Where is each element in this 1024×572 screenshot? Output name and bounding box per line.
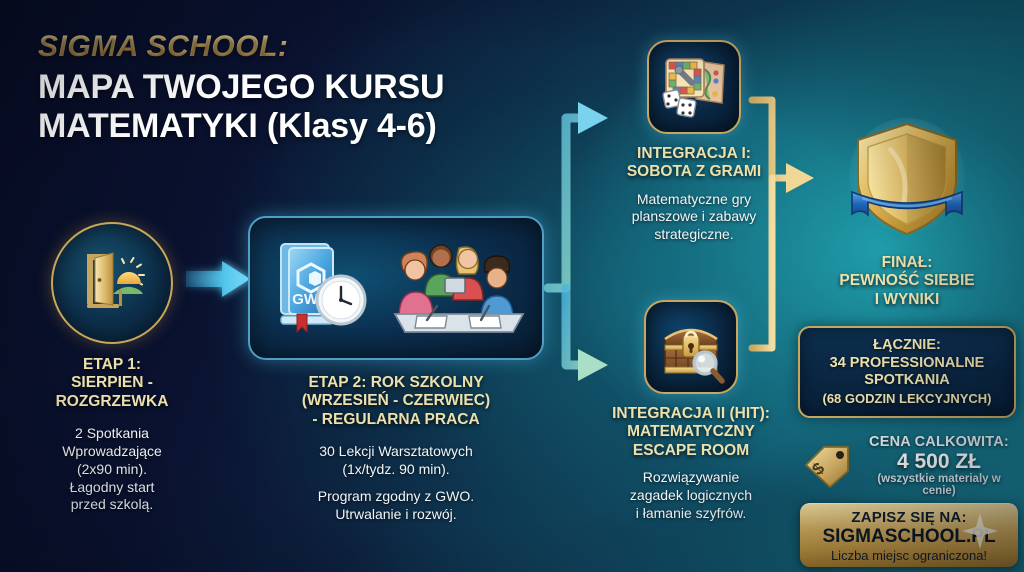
stage-1-description: 2 Spotkania Wprowadzające (2x90 min). Ła… — [6, 425, 218, 515]
integration-1-description: Matematyczne gry planszowe i zabawy stra… — [596, 191, 792, 245]
students-at-table-icon — [393, 234, 525, 342]
stage-2-title: ETAP 2: ROK SZKOLNY (WRZESIEŃ - CZERWIEC… — [248, 374, 544, 429]
board-game-dice-map-icon — [658, 51, 730, 123]
stage-2-desc-line4: Utrwalanie i rozwój. — [248, 506, 544, 524]
stage-2-title-line3: - REGULARNA PRACA — [248, 411, 544, 429]
integration-1-title-line1: INTEGRACJA I: — [596, 145, 792, 163]
stage-2-desc-line3: Program zgodny z GWO. — [248, 488, 544, 506]
integration-1-title-line2: SOBOTA Z GRAMI — [596, 163, 792, 181]
total-count-line: 34 PROFESSIONALNE — [806, 355, 1008, 373]
integration-1-icon-tile — [647, 40, 741, 134]
stage-2-block: GWO — [248, 216, 544, 523]
total-sessions-box: ŁĄCZNIE: 34 PROFESSIONALNE SPOTKANIA (68… — [798, 326, 1016, 418]
integration-2-block: INTEGRACJA II (HIT): MATEMATYCZNY ESCAPE… — [590, 300, 792, 523]
integration-1-desc-line1: Matematyczne gry — [596, 191, 792, 209]
price-block: $ CENA CALKOWITA: 4 500 ZŁ (wszystkie ma… — [802, 434, 1018, 497]
open-door-sunrise-icon — [75, 246, 149, 320]
integration-1-desc-line2: planszowe i zabawy — [596, 208, 792, 226]
cta-banner[interactable]: ZAPISZ SIĘ NA: SIGMASCHOOL.PL Liczba mie… — [800, 503, 1018, 567]
final-title-line3: I WYNIKI — [800, 291, 1014, 309]
integration-1-desc-line3: strategiczne. — [596, 226, 792, 244]
stage-2-desc-line2: (1x/tydz. 90 min). — [248, 461, 544, 479]
price-tag-icon: $ — [802, 443, 854, 489]
total-label: ŁĄCZNIE: — [806, 337, 1008, 355]
page-title: SIGMA SCHOOL: MAPA TWOJEGO KURSU MATEMAT… — [38, 30, 558, 147]
stage-1-desc-line5: przed szkolą. — [6, 496, 218, 514]
stage-2-title-line2: (WRZESIEŃ - CZERWIEC) — [248, 392, 544, 410]
integration-2-description: Rozwiązywanie zagadek logicznych i łaman… — [590, 469, 792, 523]
stage-2-icon-panel: GWO — [248, 216, 544, 360]
integration-2-icon-tile — [644, 300, 738, 394]
final-icon-wrap — [800, 118, 1014, 244]
stage-1-title-line2: SIERPIEN - — [6, 374, 218, 392]
final-title-line2: PEWNOŚĆ SIEBIE — [800, 272, 1014, 290]
price-label: CENA CALKOWITA: — [860, 434, 1018, 450]
title-main-line2: MATEMATYKI (Klasy 4-6) — [38, 107, 558, 146]
title-main-line1: MAPA TWOJEGO KURSU — [38, 68, 558, 107]
total-unit-line: SPOTKANIA — [806, 372, 1008, 390]
integration-2-desc-line3: i łamanie szyfrów. — [590, 505, 792, 523]
stage-1-desc-line3: (2x90 min). — [6, 461, 218, 479]
cta-note: Liczba miejsc ograniczona! — [800, 548, 1018, 563]
title-brand-line: SIGMA SCHOOL: — [38, 30, 558, 64]
gold-shield-ribbon-icon — [844, 118, 970, 244]
stage-2-desc-line1: 30 Lekcji Warsztatowych — [248, 443, 544, 461]
price-note: (wszystkie materialy w cenie) — [860, 473, 1018, 497]
final-title-line1: FINAŁ: — [800, 254, 1014, 272]
stage-1-desc-line2: Wprowadzające — [6, 443, 218, 461]
spacer — [248, 479, 544, 488]
stage-1-title-line3: ROZGRZEWKA — [6, 393, 218, 411]
stage-1-icon-badge — [51, 222, 173, 344]
integration-2-title-line2: MATEMATYCZNY — [590, 423, 792, 441]
integration-2-title-line1: INTEGRACJA II (HIT): — [590, 405, 792, 423]
price-amount: 4 500 ZŁ — [860, 450, 1018, 473]
price-text-wrap: CENA CALKOWITA: 4 500 ZŁ (wszystkie mate… — [860, 434, 1018, 497]
stage-2-description: 30 Lekcji Warsztatowych (1x/tydz. 90 min… — [248, 443, 544, 524]
stage-1-title: ETAP 1: SIERPIEN - ROZGRZEWKA — [6, 356, 218, 411]
integration-2-title-line3: ESCAPE ROOM — [590, 442, 792, 460]
integration-2-desc-line2: zagadek logicznych — [590, 487, 792, 505]
integration-2-title: INTEGRACJA II (HIT): MATEMATYCZNY ESCAPE… — [590, 405, 792, 460]
treasure-chest-lock-magnifier-icon — [655, 311, 727, 383]
cta-line1: ZAPISZ SIĘ NA: — [800, 509, 1018, 526]
integration-1-block: INTEGRACJA I: SOBOTA Z GRAMI Matematyczn… — [596, 40, 792, 244]
stage-2-title-line1: ETAP 2: ROK SZKOLNY — [248, 374, 544, 392]
infographic-canvas: SIGMA SCHOOL: MAPA TWOJEGO KURSU MATEMAT… — [0, 0, 1024, 572]
stage-1-desc-line1: 2 Spotkania — [6, 425, 218, 443]
arrow-split-to-integrations — [548, 118, 584, 365]
final-title: FINAŁ: PEWNOŚĆ SIEBIE I WYNIKI — [800, 254, 1014, 309]
integration-2-desc-line1: Rozwiązywanie — [590, 469, 792, 487]
final-block: FINAŁ: PEWNOŚĆ SIEBIE I WYNIKI — [800, 118, 1014, 309]
stage-1-block: ETAP 1: SIERPIEN - ROZGRZEWKA 2 Spotkani… — [6, 222, 218, 514]
stage-1-desc-line4: Łagodny start — [6, 479, 218, 497]
integration-1-title: INTEGRACJA I: SOBOTA Z GRAMI — [596, 145, 792, 182]
textbook-clock-icon: GWO — [267, 234, 375, 342]
cta-website[interactable]: SIGMASCHOOL.PL — [800, 526, 1018, 548]
total-hours-note: (68 GODZIN LEKCYJNYCH) — [806, 391, 1008, 406]
stage-1-title-line1: ETAP 1: — [6, 356, 218, 374]
